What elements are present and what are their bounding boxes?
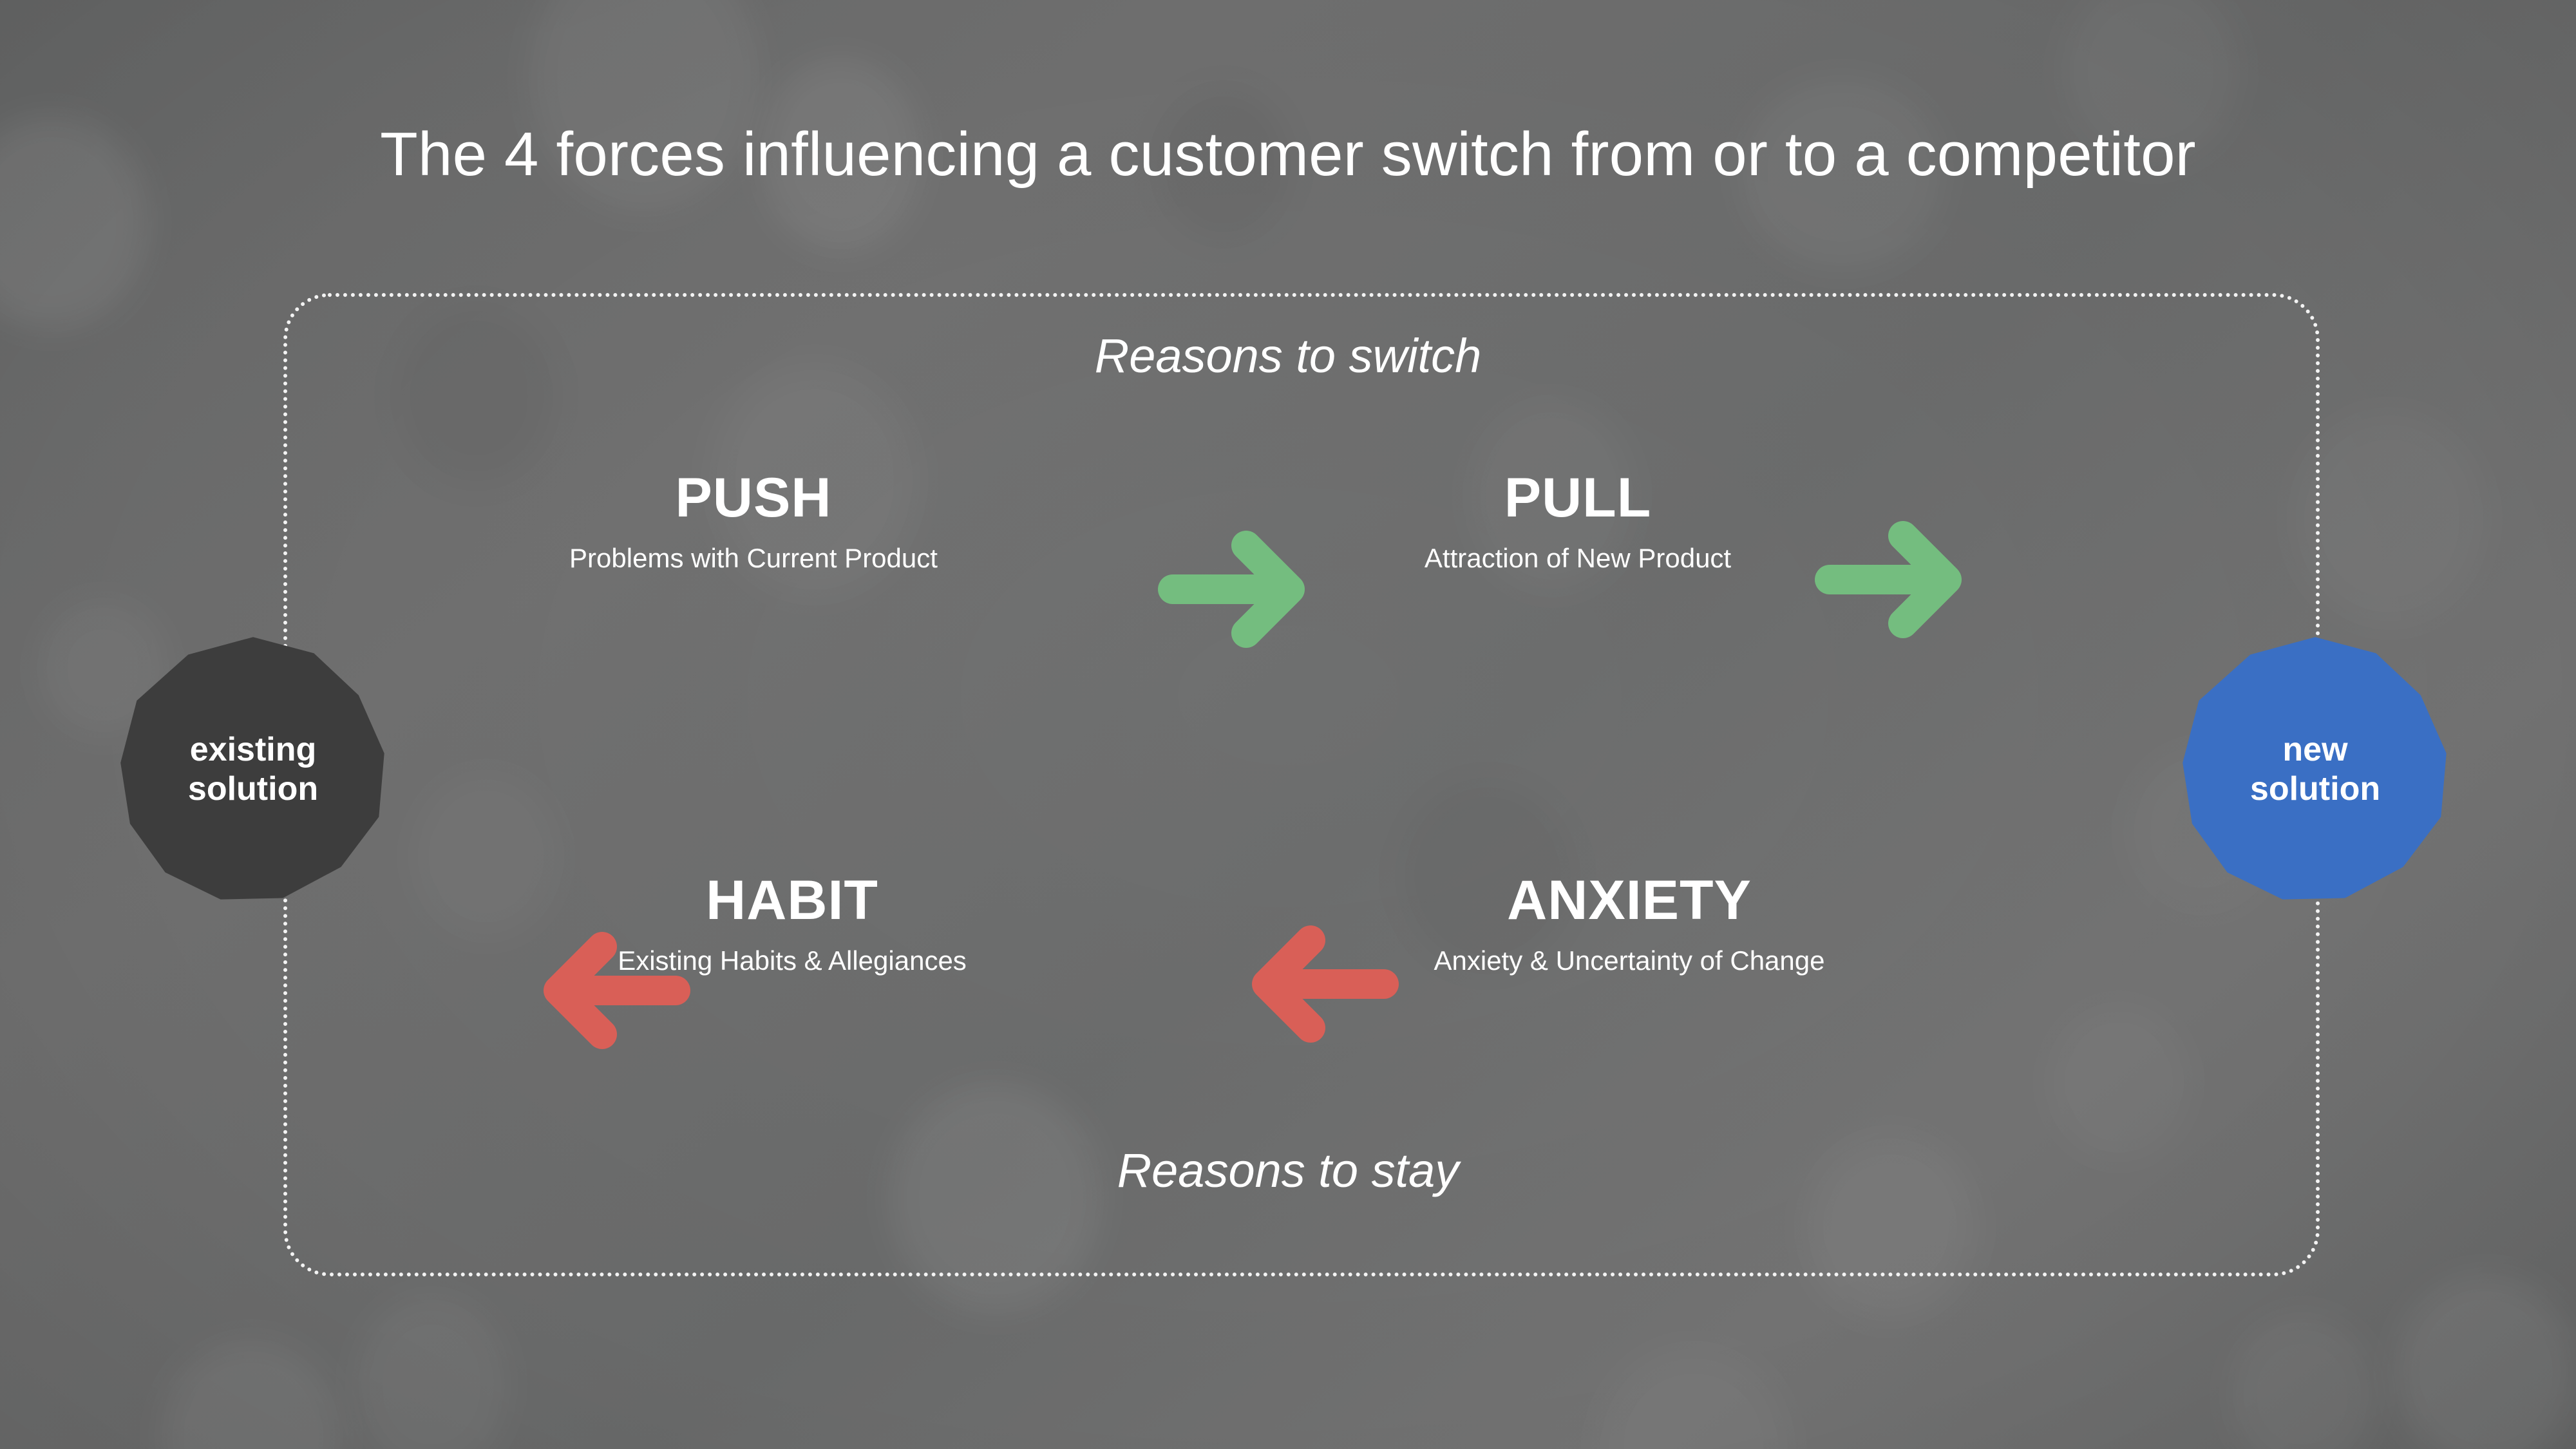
existing-solution-badge[interactable]: existing solution bbox=[118, 634, 388, 905]
force-pull-subtitle: Attraction of New Product bbox=[1314, 545, 1842, 572]
new-solution-badge[interactable]: new solution bbox=[2180, 634, 2450, 905]
page-title: The 4 forces influencing a customer swit… bbox=[0, 119, 2576, 190]
arrow-left-icon bbox=[531, 926, 692, 1055]
dotted-frame bbox=[283, 293, 2320, 1276]
force-anxiety-subtitle: Anxiety & Uncertainty of Change bbox=[1346, 947, 1913, 974]
slide-canvas: The 4 forces influencing a customer swit… bbox=[0, 0, 2576, 1449]
force-anxiety: ANXIETY Anxiety & Uncertainty of Change bbox=[1346, 873, 1913, 974]
arrow-left-icon bbox=[1240, 920, 1401, 1048]
polygon-shape bbox=[2180, 634, 2450, 905]
force-habit-heading: HABIT bbox=[528, 873, 1056, 928]
force-pull: PULL Attraction of New Product bbox=[1314, 470, 1842, 572]
force-push: PUSH Problems with Current Product bbox=[489, 470, 1018, 572]
force-anxiety-heading: ANXIETY bbox=[1346, 873, 1913, 928]
force-push-heading: PUSH bbox=[489, 470, 1018, 526]
force-pull-heading: PULL bbox=[1314, 470, 1842, 526]
reasons-to-stay-label: Reasons to stay bbox=[0, 1143, 2576, 1198]
force-push-subtitle: Problems with Current Product bbox=[489, 545, 1018, 572]
polygon-shape bbox=[118, 634, 388, 905]
reasons-to-switch-label: Reasons to switch bbox=[0, 328, 2576, 383]
arrow-right-icon bbox=[1813, 515, 1974, 644]
arrow-right-icon bbox=[1156, 525, 1317, 654]
